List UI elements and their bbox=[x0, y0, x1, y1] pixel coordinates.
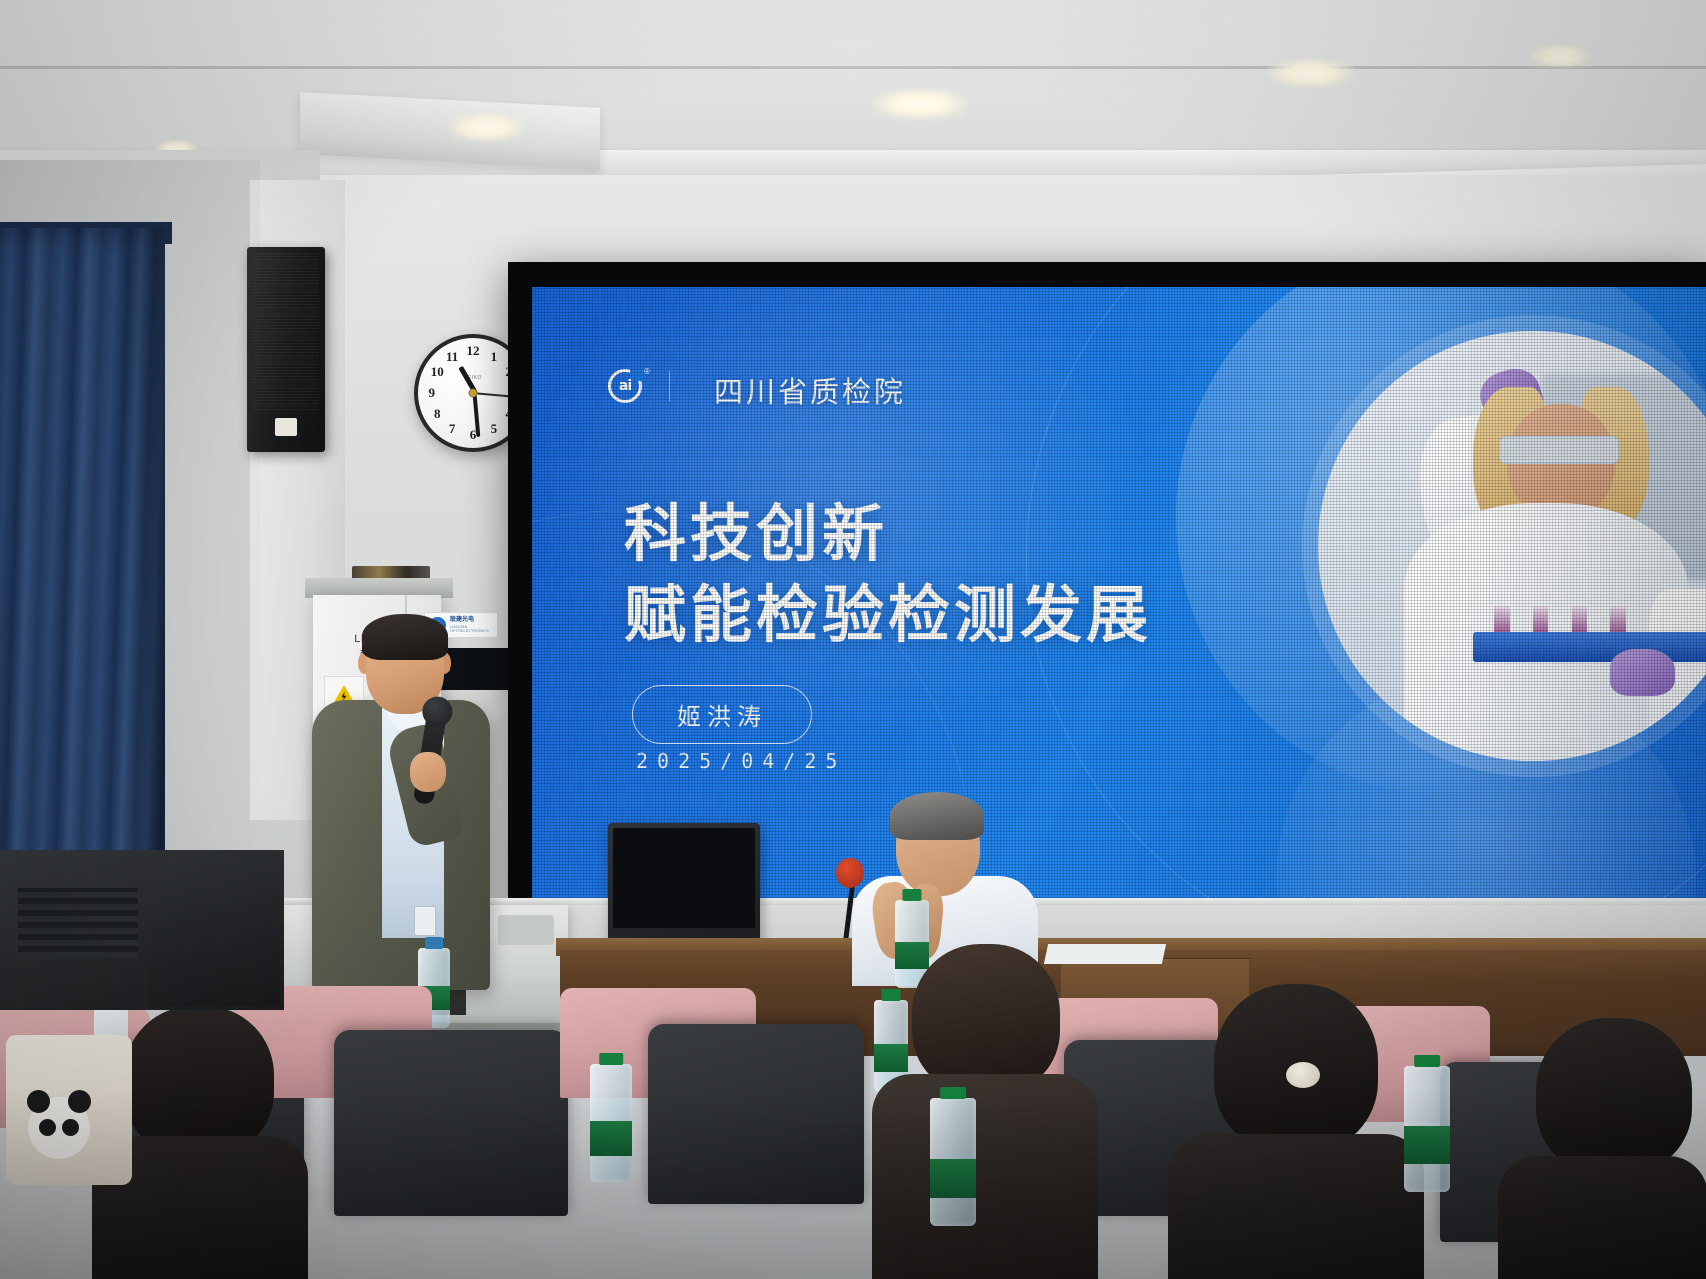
clock-numeral: 9 bbox=[429, 385, 436, 401]
speaker-mesh bbox=[253, 252, 319, 410]
cabinet-brand-text: 联建光电 LIANJIAN OPTOELECTRONICS bbox=[450, 617, 493, 633]
clock-numeral: 12 bbox=[467, 343, 480, 359]
rack-side bbox=[150, 858, 280, 1006]
stage-monitor bbox=[608, 823, 760, 941]
clock-center-hub bbox=[469, 389, 478, 398]
ceiling-downlight bbox=[448, 112, 524, 142]
seated-guest-hair bbox=[890, 792, 984, 840]
table-papers bbox=[1044, 944, 1166, 964]
clock-numeral: 7 bbox=[449, 421, 456, 437]
bottle-cap bbox=[940, 1087, 966, 1099]
monitor-screen bbox=[613, 828, 755, 928]
audience-head bbox=[912, 944, 1060, 1094]
cabinet-brand-sub: LIANJIAN OPTOELECTRONICS bbox=[450, 625, 493, 633]
bottle-cap bbox=[881, 989, 900, 1001]
photo-glove-icon bbox=[1610, 649, 1675, 696]
slide-org-name: 四川省质检院 bbox=[714, 369, 906, 411]
audience-chair bbox=[648, 1024, 864, 1204]
logo-wordmark: ai bbox=[608, 369, 642, 403]
audience-shoulders bbox=[1498, 1156, 1706, 1279]
ceiling-downlight bbox=[1530, 44, 1590, 68]
slide-presenter-badge: 姬洪涛 bbox=[632, 685, 812, 744]
clock-numeral: 5 bbox=[491, 421, 498, 437]
conference-hall-scene: SEIKO 12 1 2 3 4 5 6 7 8 9 10 11 LED智能 配… bbox=[0, 0, 1706, 1279]
desk-microphone-red bbox=[836, 858, 864, 888]
water-bottle bbox=[930, 1098, 976, 1226]
audience-chair bbox=[334, 1030, 568, 1216]
water-bottle bbox=[590, 1064, 632, 1182]
podium-panel bbox=[498, 915, 554, 945]
cabinet-brand-name: 联建光电 bbox=[450, 617, 493, 625]
bottle-cap bbox=[425, 937, 443, 949]
bottle-label bbox=[590, 1121, 632, 1156]
panda-eyes-icon bbox=[39, 1119, 79, 1136]
rack-panel bbox=[18, 888, 138, 958]
speaker-tag bbox=[275, 418, 297, 436]
bottle-label bbox=[1404, 1126, 1450, 1164]
slide-headline: 科技创新 赋能检验检测发展 bbox=[624, 495, 1152, 656]
bottle-cap bbox=[1414, 1055, 1440, 1067]
photo-tube-rack bbox=[1473, 632, 1706, 662]
wall-speaker-box bbox=[247, 247, 325, 452]
slide-headline-line1: 科技创新 bbox=[624, 495, 1152, 576]
slide-lab-photo bbox=[1318, 331, 1706, 761]
audience-shoulders bbox=[872, 1074, 1098, 1279]
header-divider bbox=[669, 371, 670, 401]
ceiling-downlight bbox=[1268, 58, 1354, 88]
clock-numeral: 8 bbox=[434, 406, 441, 422]
photo-safety-goggles bbox=[1499, 436, 1619, 464]
presenter-hand bbox=[410, 752, 446, 792]
presenter-hair bbox=[362, 614, 448, 660]
bottle-cap bbox=[599, 1053, 623, 1065]
audience-shoulders bbox=[1168, 1134, 1424, 1279]
ai-logo-icon: ai ® bbox=[608, 369, 642, 403]
panda-face-icon bbox=[28, 1097, 90, 1159]
clock-numeral: 10 bbox=[431, 364, 444, 380]
bottle-label bbox=[895, 942, 929, 968]
water-bottle bbox=[1404, 1066, 1450, 1192]
slide-headline-line2: 赋能检验检测发展 bbox=[624, 576, 1152, 657]
audience-head bbox=[124, 1006, 274, 1156]
hair-clip-icon bbox=[1286, 1062, 1320, 1088]
bottle-label bbox=[930, 1159, 976, 1197]
slide-date: 2025/04/25 bbox=[636, 749, 846, 773]
clock-numeral: 11 bbox=[446, 349, 458, 365]
bottle-label bbox=[874, 1044, 908, 1072]
panda-handbag bbox=[6, 1035, 132, 1185]
audience-head bbox=[1536, 1018, 1692, 1174]
led-video-wall-screen[interactable]: ai ® 四川省质检院 科技创新 赋能检验检测发展 姬洪涛 2025/04/25 bbox=[532, 287, 1706, 910]
presenter-badge bbox=[414, 906, 436, 936]
clock-numeral: 1 bbox=[491, 349, 498, 365]
bottle-cap bbox=[902, 889, 921, 901]
window-curtain bbox=[0, 228, 165, 928]
ceiling-seam bbox=[0, 66, 1706, 69]
registered-mark-icon: ® bbox=[644, 367, 650, 376]
ceiling-downlight bbox=[872, 88, 968, 120]
